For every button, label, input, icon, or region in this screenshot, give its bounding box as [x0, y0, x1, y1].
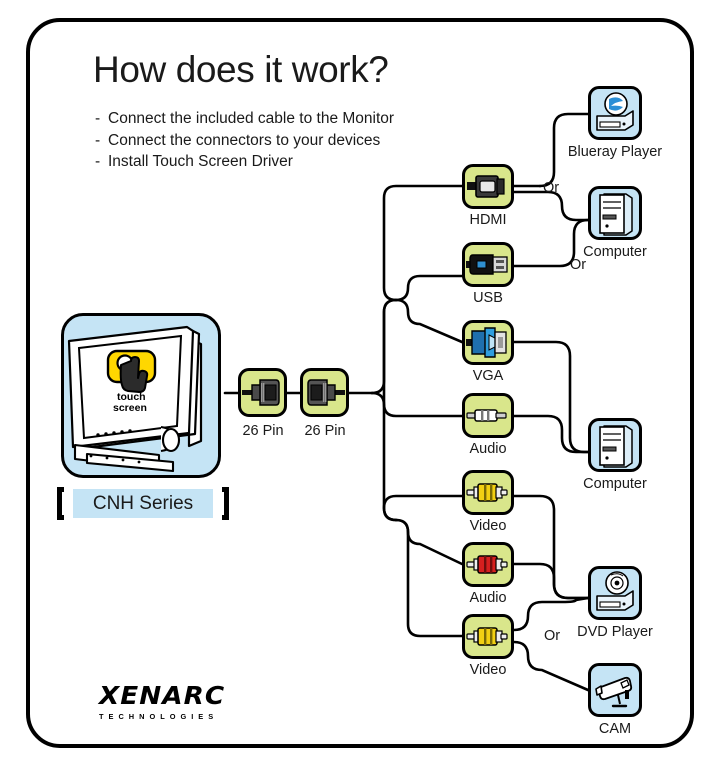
connector-tile-usb[interactable]	[462, 242, 514, 287]
list-item-label: Connect the connectors to your devices	[108, 132, 380, 149]
device-label-computer-2: Computer	[556, 476, 674, 492]
page-title: How does it work?	[93, 49, 389, 91]
device-tile-computer-1[interactable]	[588, 186, 642, 240]
device-tile-computer-2[interactable]	[588, 418, 642, 472]
bluray-player-icon	[591, 89, 639, 137]
connector-label-vga: VGA	[442, 368, 534, 384]
monitor-illustration: touch screen	[61, 313, 221, 478]
computer-tower-icon	[591, 421, 639, 469]
or-label-3: Or	[544, 628, 560, 644]
logo-subtitle: TECHNOLOGIES	[99, 712, 259, 721]
cable-tile-26pin-1[interactable]	[238, 368, 287, 417]
bullet-dash: -	[95, 130, 108, 152]
instruction-list: -Connect the included cable to the Monit…	[95, 108, 394, 173]
rca-yellow-icon	[465, 473, 511, 512]
connector-label-hdmi: HDMI	[442, 212, 534, 228]
diagram-canvas: How does it work? -Connect the included …	[0, 0, 720, 767]
connector-tile-video-2[interactable]	[462, 614, 514, 659]
rca-yellow-icon	[465, 617, 511, 656]
audio-jack-icon	[465, 396, 511, 435]
connector-tile-video-1[interactable]	[462, 470, 514, 515]
connector-tile-hdmi[interactable]	[462, 164, 514, 209]
rca-red-icon	[465, 545, 511, 584]
cable-tile-26pin-2[interactable]	[300, 368, 349, 417]
cable-label-26pin-2: 26 Pin	[280, 423, 370, 439]
connector-tile-audio-1[interactable]	[462, 393, 514, 438]
connector-tile-vga[interactable]	[462, 320, 514, 365]
26pin-connector-icon	[303, 371, 346, 414]
connector-label-audio-1: Audio	[442, 441, 534, 457]
connector-label-video-1: Video	[442, 518, 534, 534]
logo-wordmark: XENARC	[99, 681, 267, 710]
device-label-blueray-player: Blueray Player	[556, 144, 674, 160]
badge-line2: screen	[113, 402, 147, 414]
device-tile-blueray-player[interactable]	[588, 86, 642, 140]
vga-connector-icon	[465, 323, 511, 362]
dvd-player-icon	[591, 569, 639, 617]
or-label-2: Or	[570, 257, 586, 273]
device-label-dvd-player: DVD Player	[556, 624, 674, 640]
list-item: -Connect the connectors to your devices	[95, 130, 394, 152]
connector-label-video-2: Video	[442, 662, 534, 678]
connector-label-usb: USB	[442, 290, 534, 306]
xenarc-logo: XENARC TECHNOLOGIES	[99, 681, 259, 721]
hdmi-connector-icon	[465, 167, 511, 206]
bullet-dash: -	[95, 151, 108, 173]
list-item-label: Connect the included cable to the Monito…	[108, 110, 394, 127]
device-tile-dvd-player[interactable]	[588, 566, 642, 620]
usb-connector-icon	[465, 245, 511, 284]
bullet-dash: -	[95, 108, 108, 130]
list-item-label: Install Touch Screen Driver	[108, 153, 293, 170]
security-camera-icon	[591, 666, 639, 714]
connector-label-audio-2: Audio	[442, 590, 534, 606]
computer-tower-icon	[591, 189, 639, 237]
series-badge: CNH Series	[57, 487, 229, 520]
or-label-1: Or	[543, 180, 559, 196]
26pin-connector-icon	[241, 371, 284, 414]
series-label: CNH Series	[57, 487, 229, 520]
list-item: -Install Touch Screen Driver	[95, 151, 394, 173]
list-item: -Connect the included cable to the Monit…	[95, 108, 394, 130]
connector-tile-audio-2[interactable]	[462, 542, 514, 587]
device-tile-cam[interactable]	[588, 663, 642, 717]
device-label-cam: CAM	[556, 721, 674, 737]
